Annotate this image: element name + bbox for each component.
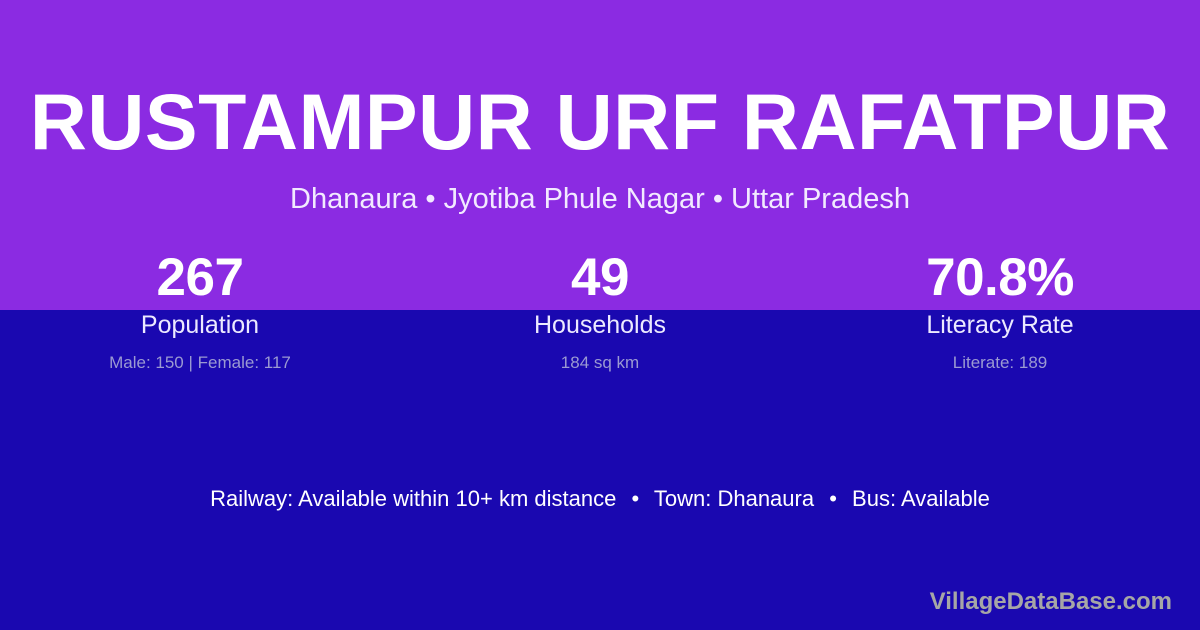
stat-label: Households [400, 310, 800, 341]
infra-separator-icon: • [622, 485, 648, 514]
infra-railway: Railway: Available within 10+ km distanc… [210, 486, 616, 511]
stat-detail: 184 sq km [400, 352, 800, 374]
page-title: RUSTAMPUR URF RAFATPUR [0, 82, 1200, 161]
infra-town: Town: Dhanaura [654, 486, 814, 511]
stat-population: 267 Population Male: 150 | Female: 117 [0, 248, 400, 374]
breadcrumb: Dhanaura • Jyotiba Phule Nagar • Uttar P… [0, 182, 1200, 217]
stat-label: Literacy Rate [800, 310, 1200, 341]
stat-detail: Literate: 189 [800, 352, 1200, 374]
stat-value: 267 [0, 248, 400, 307]
village-info-card: RUSTAMPUR URF RAFATPUR Dhanaura • Jyotib… [0, 0, 1200, 630]
infra-bus: Bus: Available [852, 486, 990, 511]
stat-detail: Male: 150 | Female: 117 [0, 352, 400, 374]
stat-literacy-rate: 70.8% Literacy Rate Literate: 189 [800, 248, 1200, 374]
brand-watermark: VillageDataBase.com [930, 588, 1172, 617]
stat-label: Population [0, 310, 400, 341]
infra-separator-icon: • [820, 485, 846, 514]
stat-value: 49 [400, 248, 800, 307]
stats-grid: 267 Population Male: 150 | Female: 117 4… [0, 248, 1200, 374]
infrastructure-summary: Railway: Available within 10+ km distanc… [0, 485, 1200, 514]
stat-households: 49 Households 184 sq km [400, 248, 800, 374]
stat-value: 70.8% [800, 248, 1200, 307]
